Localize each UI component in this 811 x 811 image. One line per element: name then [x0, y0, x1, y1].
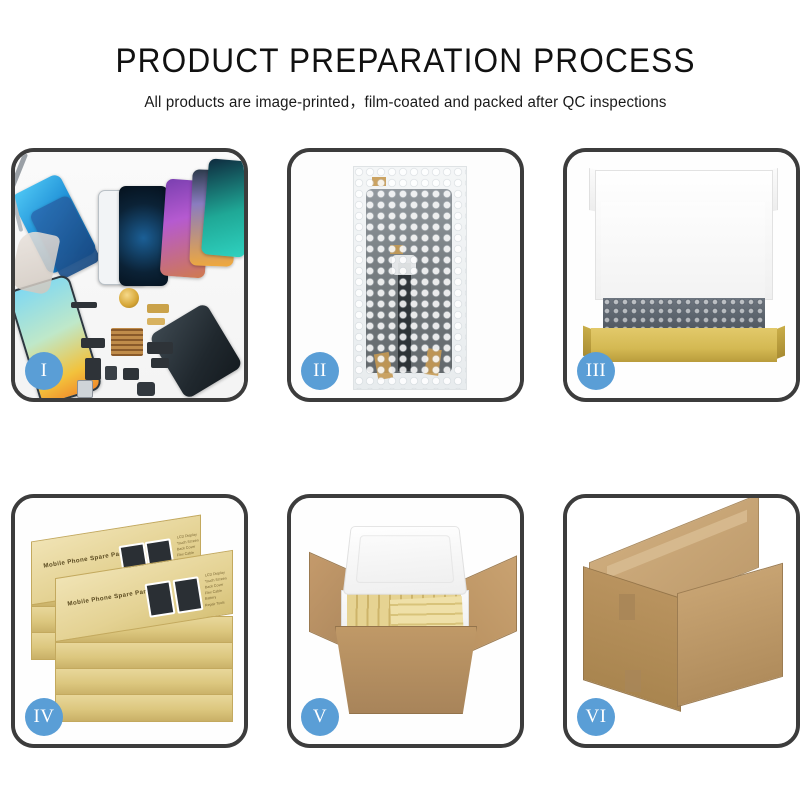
- flex-cable-icon-2: [147, 318, 165, 325]
- process-steps-grid: I II: [11, 148, 800, 748]
- small-part-icon-3: [81, 338, 105, 348]
- step-badge-2: II: [301, 352, 339, 390]
- small-part-icon-8: [123, 368, 139, 380]
- teal-phone-icon: [201, 158, 244, 257]
- process-step-panel-5: V: [287, 494, 524, 748]
- bubble-wrapped-contents: [603, 298, 765, 332]
- stacked-box-front-3: [55, 668, 233, 696]
- box-stack: Mobile Phone Spare Parts LCD Display Tou…: [29, 520, 229, 726]
- stacked-box-front-4: [55, 694, 233, 722]
- carton-tape-patch-lower: [625, 670, 641, 692]
- page-subtitle: All products are image-printed，film-coat…: [12, 90, 799, 112]
- small-part-icon-7: [105, 366, 117, 380]
- small-part-icon-4: [85, 358, 101, 380]
- speaker-mesh-icon: [71, 302, 97, 308]
- carton-tape-patch-upper: [619, 594, 635, 620]
- process-step-panel-1: I: [11, 148, 248, 402]
- camera-module-icon: [77, 380, 93, 398]
- small-part-icon-5: [147, 342, 173, 354]
- step-badge-4: IV: [25, 698, 63, 736]
- header: PRODUCT PREPARATION PROCESS All products…: [0, 0, 811, 112]
- flex-cable-icon-1: [147, 304, 169, 313]
- carton-body: [335, 626, 477, 714]
- step-badge-1: I: [25, 352, 63, 390]
- process-step-panel-6: VI: [563, 494, 800, 748]
- box-phone-print-front-1: [145, 580, 176, 618]
- box-phone-print-front-2: [173, 576, 204, 614]
- step-badge-3: III: [577, 352, 615, 390]
- bubble-wrap-bag: [353, 166, 467, 390]
- process-step-panel-4: Mobile Phone Spare Parts LCD Display Tou…: [11, 494, 248, 748]
- white-foam-sheet: [601, 202, 765, 298]
- step-badge-5: V: [301, 698, 339, 736]
- gold-coil-icon: [119, 288, 139, 308]
- gold-box-tray: [591, 328, 777, 362]
- screw-tray-icon: [111, 328, 143, 356]
- battery-connector-icon: [137, 382, 155, 396]
- process-step-panel-3: III: [563, 148, 800, 402]
- step-badge-6: VI: [577, 698, 615, 736]
- bubble-texture-overlay: [354, 167, 466, 389]
- process-step-panel-2: II: [287, 148, 524, 402]
- product-preparation-process-page: PRODUCT PREPARATION PROCESS All products…: [0, 0, 811, 811]
- foam-lid-inner-face: [356, 535, 455, 583]
- small-part-icon-6: [151, 358, 169, 368]
- page-title: PRODUCT PREPARATION PROCESS: [28, 44, 782, 80]
- foam-insert-lid: [343, 526, 468, 595]
- stacked-box-front-2: [55, 642, 233, 670]
